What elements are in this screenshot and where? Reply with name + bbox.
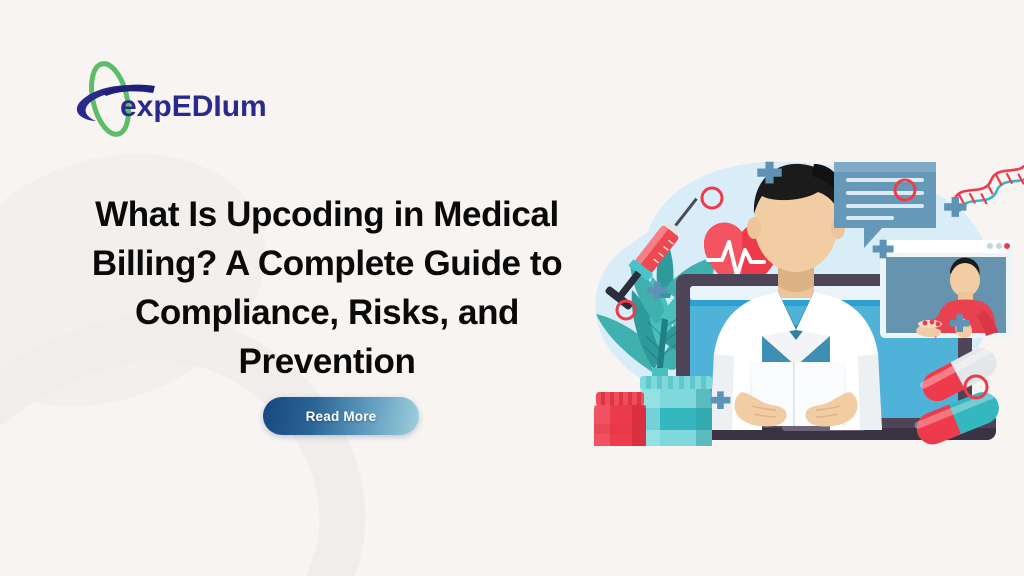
page-title: What Is Upcoding in Medical Billing? A C…	[62, 190, 592, 386]
patient-video-window	[880, 240, 1012, 338]
read-more-button[interactable]: Read More	[263, 397, 419, 435]
medicine-bottle-teal	[640, 368, 712, 446]
telemedicine-illustration	[556, 140, 1024, 446]
logo-expedium[interactable]: expEDIum	[58, 58, 273, 140]
medicine-bottle-red	[594, 392, 646, 446]
logo-wordmark: expEDIum	[120, 90, 267, 123]
banner-root: expEDIum What Is Upcoding in Medical Bil…	[0, 0, 1024, 576]
